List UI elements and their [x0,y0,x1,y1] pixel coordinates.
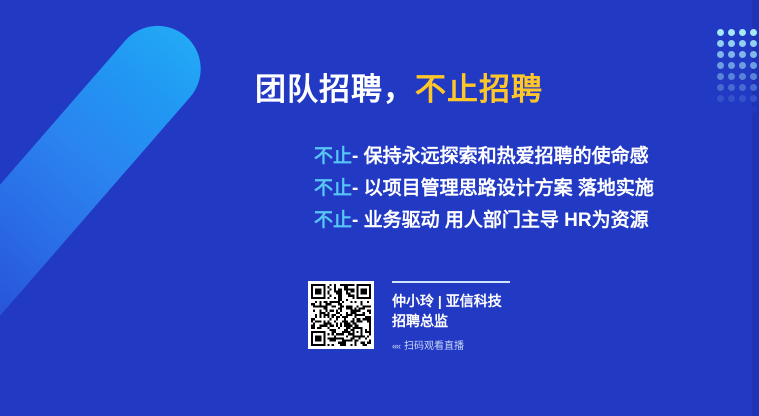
dot-icon [717,95,724,102]
dot-icon [750,40,757,47]
dot-row [717,62,759,73]
bullet-line: 不止- 保持永远探索和热爱招聘的使命感 [314,141,714,173]
dot-icon [739,62,746,69]
speaker-info: 仲小玲 | 亚信科技 招聘总监 «« 扫码观看直播 [392,281,510,353]
bullet-line: 不止- 以项目管理思路设计方案 落地实施 [314,173,714,205]
dot-icon [728,95,735,102]
dot-icon [728,84,735,91]
dot-icon [739,84,746,91]
dot-icon [717,29,724,36]
dot-icon [728,40,735,47]
dot-icon [728,62,735,69]
dot-row [717,40,759,51]
bullet-tag: 不止 [314,210,352,231]
bullet-line: 不止- 业务驱动 用人部门主导 HR为资源 [314,205,714,237]
bullet-separator: - [352,210,358,231]
dot-row [717,84,759,95]
dot-icon [717,51,724,58]
bullet-separator: - [352,178,358,199]
title-main: 团队招聘， [255,72,415,107]
dot-icon [739,73,746,80]
dot-icon [728,51,735,58]
dot-row [717,51,759,62]
dot-row [717,95,759,106]
dot-icon [750,62,757,69]
dot-icon [728,106,735,113]
dot-icon [717,106,724,113]
double-chevron-left-icon: «« [392,340,400,353]
poster-canvas: 团队招聘，不止招聘 不止- 保持永远探索和热爱招聘的使命感 不止- 以项目管理思… [0,0,759,416]
dot-icon [739,106,746,113]
title-highlight: 不止招聘 [415,72,543,107]
dot-icon [717,40,724,47]
dot-icon [739,51,746,58]
bullet-text: 保持永远探索和热爱招聘的使命感 [364,146,649,167]
diagonal-stripe-decoration [0,20,240,416]
speaker-name: 仲小玲 | 亚信科技 [392,291,510,311]
dot-row [717,106,759,117]
dot-row [717,29,759,40]
diagonal-bar-icon [0,20,218,412]
dot-row [717,73,759,84]
bullet-separator: - [352,146,358,167]
dot-icon [728,29,735,36]
dot-icon [750,106,757,113]
speaker-role: 招聘总监 [392,311,510,331]
speaker-block: 仲小玲 | 亚信科技 招聘总监 «« 扫码观看直播 [308,281,510,353]
dot-icon [728,73,735,80]
bullet-text: 业务驱动 用人部门主导 HR为资源 [364,210,649,231]
dot-grid-decoration [717,29,759,121]
dot-icon [750,95,757,102]
bullet-tag: 不止 [314,178,352,199]
dot-icon [750,51,757,58]
qr-code-icon[interactable] [311,284,371,346]
dot-icon [717,73,724,80]
bullet-tag: 不止 [314,146,352,167]
qr-code-frame[interactable] [308,281,374,349]
dot-icon [750,73,757,80]
bullet-text: 以项目管理思路设计方案 落地实施 [364,178,654,199]
dot-icon [750,84,757,91]
dot-icon [717,62,724,69]
dot-icon [717,84,724,91]
page-title: 团队招聘，不止招聘 [255,71,543,109]
dot-icon [750,29,757,36]
scan-hint-label: 扫码观看直播 [404,340,464,353]
dot-icon [739,40,746,47]
speaker-divider [392,281,510,283]
dot-icon [739,95,746,102]
bullet-list: 不止- 保持永远探索和热爱招聘的使命感 不止- 以项目管理思路设计方案 落地实施… [314,141,714,237]
scan-hint: «« 扫码观看直播 [392,340,510,353]
dot-icon [739,29,746,36]
